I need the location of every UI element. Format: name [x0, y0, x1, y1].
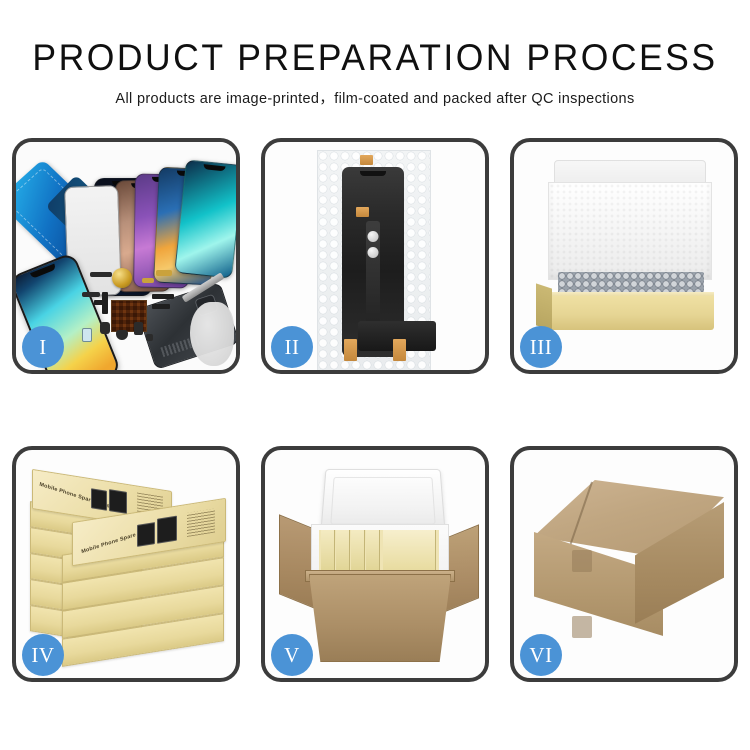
panel-6-illustration: VI	[514, 450, 734, 678]
carton-with-cooler-icon	[279, 466, 479, 670]
box-front-panel-icon	[542, 296, 714, 330]
spare-part-icon	[156, 270, 172, 276]
panel-2-illustration: II	[265, 142, 485, 370]
spare-part-icon	[90, 272, 112, 277]
gold-coil-part-icon	[112, 268, 132, 288]
step-badge-5: V	[271, 634, 313, 676]
spare-part-icon	[152, 304, 170, 309]
page-subtitle: All products are image-printed，film-coat…	[0, 87, 750, 108]
spare-part-icon	[82, 328, 92, 342]
box-window-icon	[91, 488, 107, 511]
page-title: PRODUCT PREPARATION PROCESS	[15, 36, 735, 80]
panel-3-illustration: III	[514, 142, 734, 370]
carton-tape-icon	[572, 550, 592, 572]
process-panel-5[interactable]: V	[261, 446, 489, 682]
box-side-panel-icon	[536, 283, 552, 330]
carton-tape-icon	[572, 616, 592, 638]
spare-part-icon	[142, 278, 154, 283]
tape-strip-icon	[360, 155, 373, 165]
process-panel-grid: I II	[12, 138, 738, 682]
bubble-wrap-bag-icon	[317, 150, 431, 370]
box-spec-lines-icon	[187, 509, 215, 537]
white-foam-sheet-icon	[548, 182, 712, 280]
tape-strip-icon	[356, 207, 369, 217]
process-panel-3[interactable]: III	[510, 138, 738, 374]
page-header: PRODUCT PREPARATION PROCESS All products…	[0, 0, 750, 108]
phone-device-1	[174, 159, 236, 278]
flex-connector-icon	[368, 247, 379, 258]
spare-part-icon	[82, 292, 100, 297]
process-panel-2[interactable]: II	[261, 138, 489, 374]
panel-1-illustration: I	[16, 142, 236, 370]
open-mailer-box-icon	[536, 160, 720, 332]
process-panel-6[interactable]: VI	[510, 446, 738, 682]
panel-4-illustration: Mobile Phone Spare Parts Mobile Phone Sp…	[16, 450, 236, 678]
box-window-icon	[109, 489, 127, 514]
carton-body-icon	[309, 574, 451, 662]
spare-part-icon	[146, 334, 153, 341]
step-badge-6: VI	[520, 634, 562, 676]
spare-part-icon	[94, 300, 108, 305]
process-panel-4[interactable]: Mobile Phone Spare Parts Mobile Phone Sp…	[12, 446, 240, 682]
step-badge-3: III	[520, 326, 562, 368]
panel-5-illustration: V	[265, 450, 485, 678]
step-badge-1: I	[22, 326, 64, 368]
sealed-carton-icon	[534, 480, 724, 652]
box-window-icon	[157, 516, 177, 544]
wrapped-screen-assembly-icon	[342, 167, 404, 357]
tape-strip-icon	[393, 339, 406, 361]
step-badge-4: IV	[22, 634, 64, 676]
box-window-icon	[137, 522, 155, 547]
step-badge-2: II	[271, 326, 313, 368]
tape-strip-icon	[344, 339, 357, 361]
hand-icon	[190, 302, 234, 366]
spare-part-icon	[134, 322, 143, 335]
flex-connector-icon	[368, 231, 379, 242]
process-panel-1[interactable]: I	[12, 138, 240, 374]
spare-part-icon	[100, 322, 110, 334]
spare-part-icon	[152, 294, 174, 299]
